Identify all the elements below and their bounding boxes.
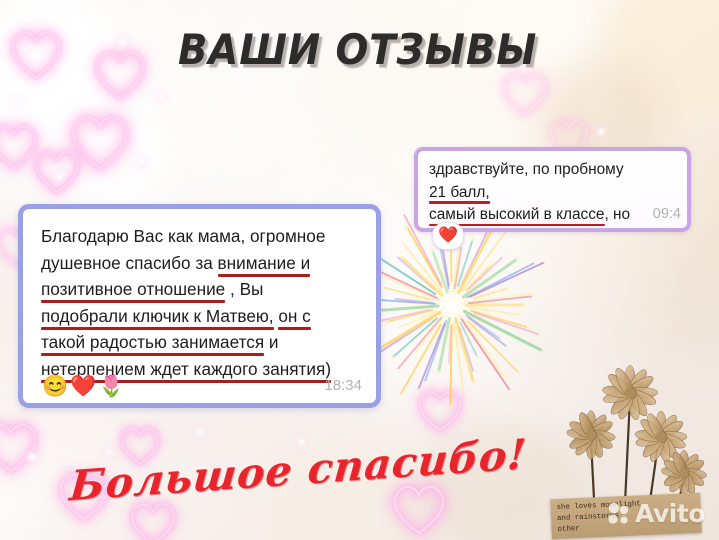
- message-run: душевное спасибо за: [41, 253, 218, 273]
- neon-heart: [500, 70, 550, 116]
- highlighted-phrase: позитивное отношение: [41, 279, 225, 299]
- paper-label: she loves moonlight and rainstorms other: [550, 493, 702, 540]
- message-line: подобрали ключик к Матвею, он с: [41, 303, 360, 330]
- neon-heart: [416, 388, 464, 432]
- neon-heart: [0, 420, 40, 474]
- message-line: здравствуйте, по пробному 21 балл,: [429, 159, 678, 204]
- sparkle-dot: [30, 455, 34, 459]
- neon-heart: [390, 482, 448, 536]
- review-text-left: Благодарю Вас как мама, огромноедушевное…: [41, 223, 360, 382]
- neon-heart: [32, 148, 82, 194]
- message-line: душевное спасибо за внимание и: [41, 250, 360, 277]
- neon-heart: [8, 28, 64, 80]
- sparkle-dot: [198, 430, 202, 434]
- sparkle-dot: [160, 95, 163, 98]
- sparkle-dot: [108, 450, 111, 453]
- message-emojis: 😊❤️🌷: [42, 376, 126, 397]
- review-bubble-right[interactable]: здравствуйте, по пробному 21 балл,самый …: [414, 147, 691, 232]
- neon-heart: [68, 112, 132, 170]
- neon-heart: [92, 48, 148, 100]
- review-bubble-left[interactable]: Благодарю Вас как мама, огромноедушевное…: [18, 204, 381, 408]
- sparkle-dot: [140, 160, 143, 163]
- neon-heart: [0, 122, 40, 170]
- heart-reaction-badge[interactable]: ❤️: [432, 222, 464, 250]
- highlighted-phrase: он с: [278, 306, 310, 326]
- message-timestamp: 18:34: [324, 377, 362, 394]
- highlighted-phrase: самый высокий в классе: [429, 206, 605, 223]
- highlighted-phrase: внимание и: [218, 253, 311, 273]
- review-text-right: здравствуйте, по пробному 21 балл,самый …: [429, 159, 678, 232]
- message-line: позитивное отношение , Вы: [41, 276, 360, 303]
- sparkle-dot: [16, 100, 19, 103]
- neon-heart: [128, 500, 178, 540]
- message-run: Благодарю Вас как мама, огромное: [41, 226, 325, 246]
- message-run: здравствуйте, по пробному: [429, 161, 624, 178]
- sparkle-dot: [300, 440, 303, 443]
- message-timestamp: 09:4: [653, 206, 681, 222]
- highlighted-phrase: такой радостью занимается: [41, 332, 264, 352]
- sparkle-dot: [600, 130, 603, 133]
- message-line: Благодарю Вас как мама, огромное: [41, 223, 360, 250]
- message-line: самый высокий в классе, но одного: [429, 204, 678, 232]
- highlighted-phrase: подобрали ключик к Матвею,: [41, 306, 274, 326]
- bokeh-blob: [0, 0, 120, 130]
- message-run: , Вы: [225, 279, 263, 299]
- highlighted-phrase: 21 балл,: [429, 184, 490, 201]
- message-run: и: [264, 332, 278, 352]
- sparkle-dot: [120, 40, 124, 44]
- review-collage: ВАШИ ОТЗЫВЫ (function(){ var g=document.…: [0, 0, 719, 540]
- sparkle-dot: [58, 175, 62, 179]
- bokeh-blob: [600, 0, 719, 120]
- page-title: ВАШИ ОТЗЫВЫ: [178, 25, 537, 74]
- thanks-handwriting: Большое спасибо!: [68, 430, 529, 510]
- message-line: такой радостью занимается и: [41, 329, 360, 356]
